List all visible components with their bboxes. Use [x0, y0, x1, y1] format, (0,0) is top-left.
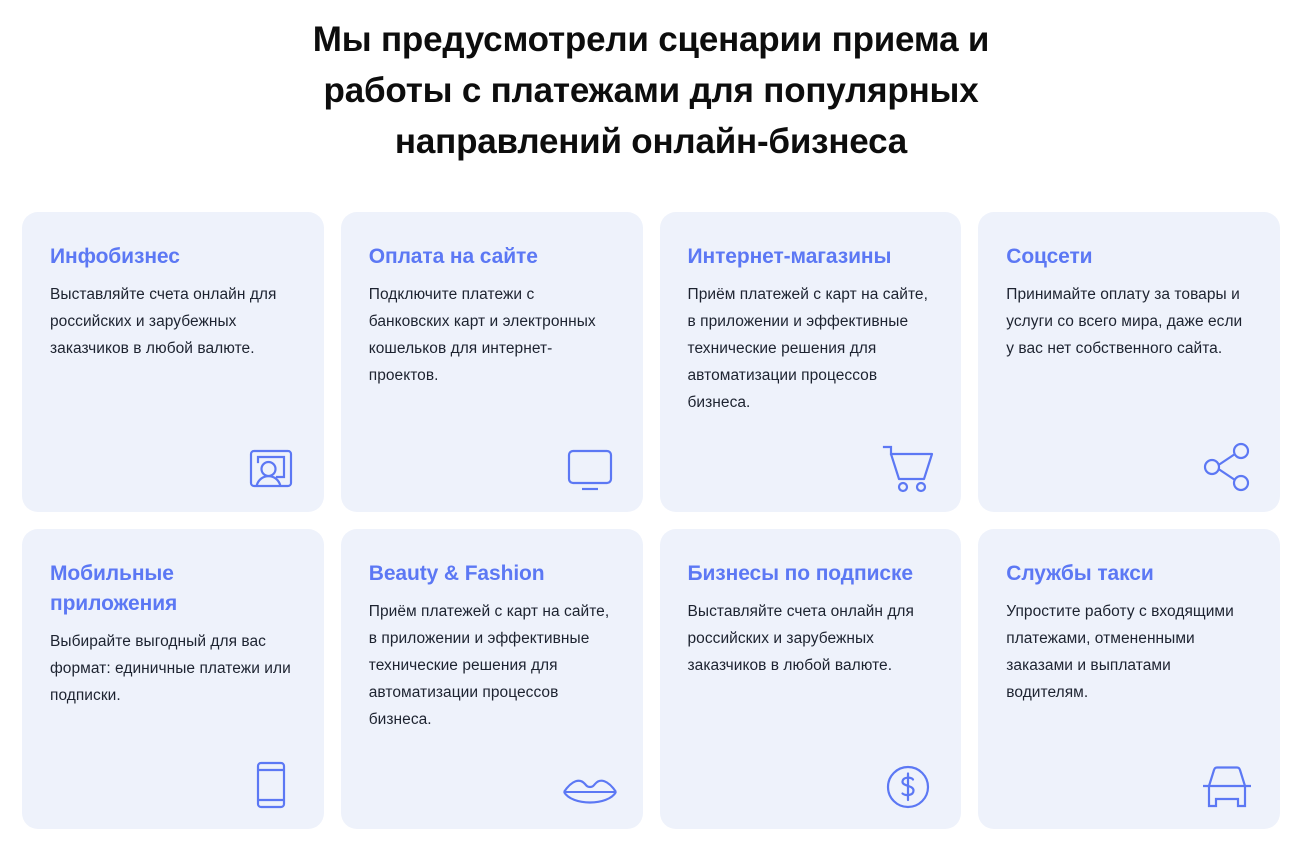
presentation-person-icon — [240, 434, 302, 492]
business-scenarios-grid: Инфобизнес Выставляйте счета онлайн для … — [22, 212, 1280, 829]
card-title: Интернет-магазины — [688, 242, 934, 272]
card-description: Подключите платежи с банковских карт и э… — [369, 281, 615, 389]
card-title: Beauty & Fashion — [369, 559, 615, 589]
monitor-icon — [559, 434, 621, 492]
landing-page: Мы предусмотрели сценарии приема и работ… — [0, 0, 1302, 842]
scenario-card-online-stores[interactable]: Интернет-магазины Приём платежей с карт … — [660, 212, 962, 512]
card-description: Выбирайте выгодный для вас формат: едини… — [50, 628, 296, 709]
card-description: Приём платежей с карт на сайте, в прилож… — [688, 281, 934, 416]
share-network-icon — [1196, 434, 1258, 492]
shopping-cart-icon — [877, 434, 939, 492]
section-heading: Мы предусмотрели сценарии приема и работ… — [0, 0, 1302, 167]
card-title: Инфобизнес — [50, 242, 296, 272]
card-description: Приём платежей с карт на сайте, в прилож… — [369, 598, 615, 733]
scenario-card-website-payments[interactable]: Оплата на сайте Подключите платежи с бан… — [341, 212, 643, 512]
card-title: Мобильные приложения — [50, 559, 296, 619]
card-title: Бизнесы по подписке — [688, 559, 934, 589]
card-title: Соцсети — [1006, 242, 1252, 272]
card-description: Выставляйте счета онлайн для российских … — [688, 598, 934, 679]
scenario-card-social-networks[interactable]: Соцсети Принимайте оплату за товары и ус… — [978, 212, 1280, 512]
lips-icon — [559, 751, 621, 809]
card-title: Оплата на сайте — [369, 242, 615, 272]
car-icon — [1196, 751, 1258, 809]
scenario-card-taxi-services[interactable]: Службы такси Упростите работу с входящим… — [978, 529, 1280, 829]
smartphone-icon — [240, 751, 302, 809]
card-description: Принимайте оплату за товары и услуги со … — [1006, 281, 1252, 362]
card-description: Выставляйте счета онлайн для российских … — [50, 281, 296, 362]
card-title: Службы такси — [1006, 559, 1252, 589]
dollar-circle-icon — [877, 751, 939, 809]
scenario-card-mobile-apps[interactable]: Мобильные приложения Выбирайте выгодный … — [22, 529, 324, 829]
scenario-card-beauty-fashion[interactable]: Beauty & Fashion Приём платежей с карт н… — [341, 529, 643, 829]
card-description: Упростите работу с входящими платежами, … — [1006, 598, 1252, 706]
scenario-card-subscription-business[interactable]: Бизнесы по подписке Выставляйте счета он… — [660, 529, 962, 829]
scenario-card-infobusiness[interactable]: Инфобизнес Выставляйте счета онлайн для … — [22, 212, 324, 512]
